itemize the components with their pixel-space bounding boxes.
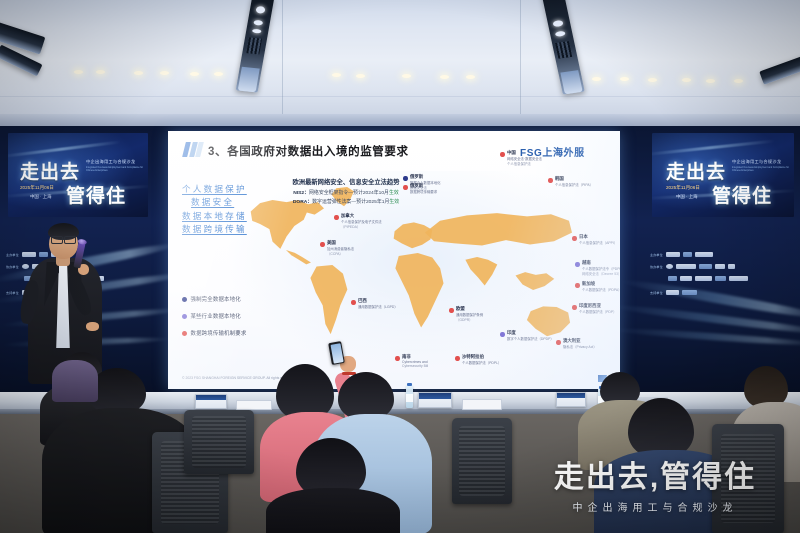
map-callout-dot-icon [572, 236, 577, 241]
ceiling [0, 0, 800, 126]
legend-dot-icon [182, 314, 187, 319]
legend-label: 数据跨境传输机制要求 [191, 329, 247, 337]
dora-tag: DORA： [293, 200, 312, 205]
sponsor-row-tag: 主办单位 [6, 253, 19, 257]
slide-keywords: 个人数据保护 数据安全 数据本地存储 数据跨境传输 [182, 183, 247, 236]
banner-left-title-1: 走出去 [20, 157, 80, 184]
map-callout-text: 印度数字个人数据保护法（DPDP） [507, 330, 554, 341]
nis2-accent: 生效 [389, 191, 399, 196]
nis2-text: 网络安全框架指令—预计2024年10月 [309, 191, 389, 196]
keyword-item: 数据跨境传输 [182, 223, 247, 236]
map-callout-text: 欧盟通用数据保护条例（GDPR） [456, 306, 483, 322]
map-callout-text: 中国网络安全法·数据安全法个人信息保护法 [507, 150, 542, 166]
map-callout-text: 日本个人信息保护法（APPI） [579, 234, 617, 245]
banner-right: 走出去 管得住 中企出海用工与合规沙龙 Integrated Overseas … [652, 133, 794, 217]
banner-left-date: 2025年11月06日 [20, 185, 54, 191]
speaker-hand-left [86, 322, 99, 331]
chair [452, 418, 512, 504]
map-callout-dot-icon [320, 242, 325, 247]
keyword-item: 个人数据保护 [182, 183, 247, 196]
legend-dot-icon [182, 297, 187, 302]
map-callout-dot-icon [351, 300, 356, 305]
sponsor-row-tag: 支持单位 [6, 291, 19, 295]
map-callout-dot-icon [395, 356, 400, 361]
banner-right-city: 中国 · 上海 [676, 194, 697, 200]
watermark: 走出去,管得住 中企出海用工与合规沙龙 [520, 452, 790, 514]
banner-left: 走出去 管得住 中企出海用工与合规沙龙 Integrated Overseas … [8, 133, 148, 217]
speaker-glasses-icon [51, 236, 76, 242]
legend-label: 强制完全数据本地化 [191, 295, 241, 303]
map-callout-text: 越南个人数据保护法令（PDPD）网络安全法（Decree 53） [582, 260, 620, 276]
legend-item: 某些行业数据本地化 [182, 312, 246, 320]
banner-right-subtitle-en: Integrated Overseas Employment and Compl… [732, 166, 790, 173]
legend-item: 数据跨境传输机制要求 [182, 329, 246, 337]
water-bottle [406, 385, 413, 408]
map-callout-law: 数字个人数据保护法（DPDP） [507, 336, 554, 341]
map-callout-dot-icon [500, 152, 505, 157]
map-callout-law-2: （CCPA） [327, 251, 354, 256]
map-callout-law-2: （PIPEDA） [341, 224, 382, 229]
sponsor-row-tag: 协办单位 [650, 265, 663, 269]
dora-text: 数字运营弹性法案—预计2025年1月 [312, 200, 389, 205]
name-placard [556, 392, 586, 407]
map-callout-dot-icon [455, 356, 460, 361]
map-callout-text: 南非Cybercrimes andCybersecurity Bill [402, 354, 428, 368]
map-callout-law: 个人数据保护法（PDPL） [462, 360, 501, 365]
photo-scene: 走出去 管得住 中企出海用工与合规沙龙 Integrated Overseas … [0, 0, 800, 533]
slide-footer: © 2023 FSG SHANGHAI FOREIGN SERVICE GROU… [182, 376, 294, 380]
sponsor-logos-right: 主办单位 协办单位 支持单位 [650, 252, 796, 308]
sponsor-row-tag: 协办单位 [6, 265, 19, 269]
keyword-item: 数据本地存储 [182, 210, 247, 223]
map-callout-text: 印度尼西亚个人数据保护法（PDP） [579, 303, 617, 314]
map-callout-dot-icon [334, 215, 339, 220]
banner-left-subtitle-en: Integrated Overseas Employment and Compl… [86, 166, 144, 173]
banner-left-title-2: 管得住 [66, 181, 126, 208]
banner-left-subtitle-cn: 中企出海用工与合规沙龙 [86, 159, 135, 165]
map-callout-dot-icon [575, 283, 580, 288]
attendee-shoulders [52, 360, 98, 402]
map-callout-law-2: 个人信息保护法 [507, 161, 542, 166]
map-callout-text: 沙特阿拉伯个人数据保护法（PDPL） [462, 354, 501, 365]
banner-right-title-2: 管得住 [712, 181, 772, 208]
map-callout-law: 个人数据保护法（PDPA） [582, 287, 620, 292]
map-callout-dot-icon [556, 340, 561, 345]
legend-label: 某些行业数据本地化 [191, 312, 241, 320]
attendee-hair [338, 372, 394, 420]
map-callout-law: 隐私法（Privacy Act） [563, 344, 597, 349]
presentation-slide: 3、各国政府对数据出入境的监管要求 FSG上海外服 [168, 131, 620, 389]
ceiling-beam-far-right [759, 53, 800, 85]
slide-title: 3、各国政府对数据出入境的监管要求 [208, 143, 409, 159]
legend-item: 强制完全数据本地化 [182, 295, 246, 303]
map-callout-law: 个人信息保护法（PIPA） [555, 182, 593, 187]
notepad [236, 400, 272, 410]
europe-note-line: DORA：数字运营弹性法案—预计2025年1月生效 [254, 198, 438, 205]
keyword-item: 数据安全 [182, 196, 247, 209]
banner-right-subtitle-cn: 中企出海用工与合规沙龙 [732, 159, 781, 165]
map-callout-text: 新加坡个人数据保护法（PDPA） [582, 281, 620, 292]
name-placard [418, 392, 452, 408]
upper-wall-band [0, 114, 800, 126]
map-callout-law-2: 网络安全法（Decree 53） [582, 271, 620, 276]
slide-legend: 强制完全数据本地化 某些行业数据本地化 数据跨境传输机制要求 [182, 295, 246, 346]
map-callout-law-2: （GDPR） [456, 317, 483, 322]
attendee-shoulders [266, 488, 400, 533]
watermark-subtitle: 中企出海用工与合规沙龙 [520, 499, 790, 514]
map-callout-dot-icon [449, 308, 454, 313]
legend-dot-icon [182, 331, 187, 336]
map-callout-text: 美国加州消费者隐私法（CCPA） [327, 240, 354, 256]
map-callout-dot-icon [572, 305, 577, 310]
map-callout-text: 韩国个人信息保护法（PIPA） [555, 176, 593, 187]
sponsor-row-tag: 支持单位 [650, 291, 663, 295]
europe-note-line: NIS2：网络安全框架指令—预计2024年10月生效 [254, 189, 438, 196]
ceiling-beam-right [541, 0, 584, 95]
title-accent-bars-icon [182, 142, 204, 157]
map-callout-text: 加拿大个人信息保护及电子文件法（PIPEDA） [341, 213, 382, 229]
notepad [462, 399, 502, 410]
map-callout-text: 巴西通用数据保护法（LGPD） [358, 298, 398, 309]
map-callout-dot-icon [548, 178, 553, 183]
banner-right-date: 2025年11月06日 [666, 185, 700, 191]
map-callout-dot-icon [575, 262, 580, 267]
name-placard [195, 394, 227, 409]
nis2-tag: NIS2： [293, 191, 309, 196]
attendee-hair [628, 398, 694, 458]
watermark-title: 走出去,管得住 [520, 452, 790, 496]
europe-note-heading: 欧洲最新网络安全、信息安全立法趋势 [254, 177, 438, 186]
dora-accent: 生效 [389, 200, 399, 205]
map-callout-law-2: Cybersecurity Bill [402, 364, 428, 368]
map-callout-text: 澳大利亚隐私法（Privacy Act） [563, 338, 597, 349]
sponsor-row-tag: 主办单位 [650, 253, 663, 257]
chair [184, 410, 254, 474]
map-callout-dot-icon [500, 332, 505, 337]
europe-legislation-note: 欧洲最新网络安全、信息安全立法趋势 NIS2：网络安全框架指令—预计2024年1… [254, 177, 438, 205]
ceiling-beam-center [236, 0, 275, 93]
banner-left-city: 中国 · 上海 [30, 194, 51, 200]
map-callout-law: 个人数据保护法（PDP） [579, 309, 617, 314]
map-callout-law: 个人信息保护法（APPI） [579, 240, 617, 245]
banner-right-title-1: 走出去 [666, 157, 726, 184]
map-callout-law: 通用数据保护法（LGPD） [358, 304, 398, 309]
